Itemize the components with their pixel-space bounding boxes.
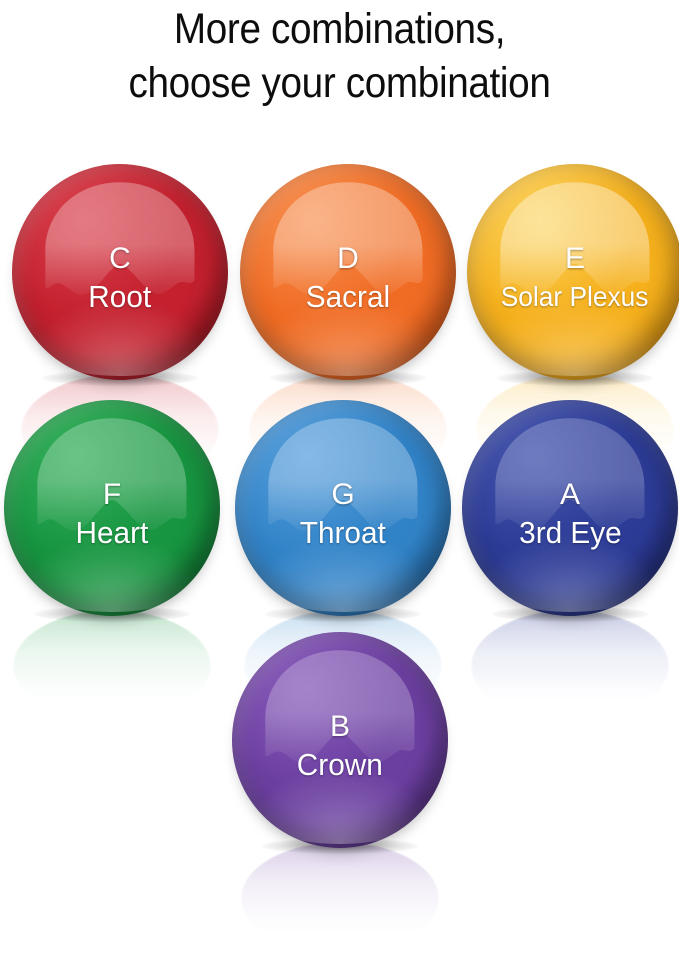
chakra-ball-labels-third-eye: A3rd Eye: [462, 400, 678, 616]
gloss-highlight-icon: [268, 179, 428, 300]
chakra-ball-reflection-crown: [241, 842, 440, 954]
chakra-ball-reflection-heart: [13, 610, 212, 722]
chakra-name-root: Root: [89, 279, 152, 315]
chakra-name-sacral: Sacral: [306, 279, 390, 315]
gloss-highlight-icon: [495, 179, 655, 300]
chakra-note-solar-plexus: E: [565, 243, 585, 275]
chakra-ball-sphere-sacral: DSacral: [240, 164, 456, 380]
chakra-ball-root[interactable]: CRoot: [12, 164, 228, 380]
chakra-note-crown: B: [330, 711, 350, 743]
chakra-ball-sphere-heart: FHeart: [4, 400, 220, 616]
chakra-note-root: C: [109, 243, 131, 275]
gloss-highlight-icon: [490, 415, 650, 536]
chakra-ball-board: CRootDSacralESolar PlexusFHeartGThroatA3…: [0, 0, 679, 899]
chakra-ball-heart[interactable]: FHeart: [4, 400, 220, 616]
chakra-ball-labels-root: CRoot: [12, 164, 228, 380]
chakra-ball-throat[interactable]: GThroat: [235, 400, 451, 616]
chakra-ball-labels-crown: BCrown: [232, 632, 448, 848]
chakra-ball-sphere-third-eye: A3rd Eye: [462, 400, 678, 616]
chakra-ball-labels-solar-plexus: ESolar Plexus: [467, 164, 679, 380]
chakra-ball-solar-plexus[interactable]: ESolar Plexus: [467, 164, 679, 380]
chakra-name-solar-plexus: Solar Plexus: [501, 279, 649, 315]
chakra-ball-labels-throat: GThroat: [235, 400, 451, 616]
chakra-name-heart: Heart: [76, 515, 149, 551]
chakra-note-third-eye: A: [560, 479, 580, 511]
chakra-ball-sphere-crown: BCrown: [232, 632, 448, 848]
gloss-highlight-icon: [263, 415, 423, 536]
chakra-note-throat: G: [331, 479, 354, 511]
chakra-ball-crown[interactable]: BCrown: [232, 632, 448, 848]
chakra-ball-sphere-throat: GThroat: [235, 400, 451, 616]
gloss-highlight-icon: [260, 647, 420, 768]
chakra-name-crown: Crown: [297, 747, 383, 783]
chakra-ball-sacral[interactable]: DSacral: [240, 164, 456, 380]
chakra-ball-labels-sacral: DSacral: [240, 164, 456, 380]
chakra-note-heart: F: [103, 479, 121, 511]
chakra-ball-labels-heart: FHeart: [4, 400, 220, 616]
chakra-name-throat: Throat: [300, 515, 386, 551]
chakra-name-third-eye: 3rd Eye: [519, 515, 622, 551]
gloss-highlight-icon: [32, 415, 192, 536]
chakra-ball-third-eye[interactable]: A3rd Eye: [462, 400, 678, 616]
chakra-ball-sphere-root: CRoot: [12, 164, 228, 380]
chakra-note-sacral: D: [337, 243, 359, 275]
chakra-ball-reflection-third-eye: [471, 610, 670, 722]
gloss-highlight-icon: [40, 179, 200, 300]
chakra-ball-sphere-solar-plexus: ESolar Plexus: [467, 164, 679, 380]
